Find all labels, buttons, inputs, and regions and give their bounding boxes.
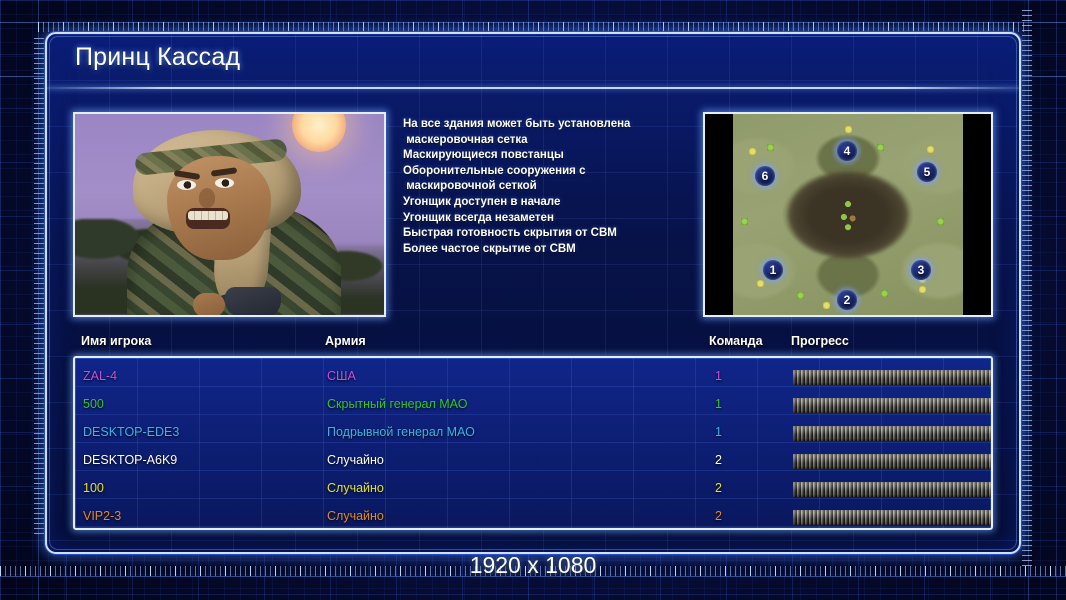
- column-header-progress: Прогресс: [791, 334, 849, 348]
- player-team[interactable]: 1: [715, 397, 722, 411]
- media-row: На все здания может быть установлена мас…: [73, 112, 993, 317]
- column-header-army: Армия: [325, 334, 366, 348]
- player-name: VIP2-3: [83, 509, 121, 523]
- table-row[interactable]: VIP2-3Случайно2: [75, 504, 991, 530]
- map-start-position-5[interactable]: 5: [917, 162, 937, 182]
- ability-line: маскеровочная сетка: [403, 133, 703, 149]
- player-progress-bar: [793, 510, 993, 525]
- table-row[interactable]: DESKTOP-A6K9Случайно2: [75, 448, 991, 476]
- player-army[interactable]: Случайно: [327, 481, 384, 495]
- map-prop: [927, 146, 934, 153]
- portrait-eye-right: [215, 178, 234, 188]
- map-prop: [919, 286, 926, 293]
- player-army[interactable]: Скрытный генерал МАО: [327, 397, 467, 411]
- resolution-label: 1920 x 1080: [0, 552, 1066, 579]
- map-letterbox-right: [963, 114, 991, 315]
- player-team[interactable]: 1: [715, 369, 722, 383]
- map-center-props: [835, 198, 861, 232]
- ability-line: Угонщик всегда незаметен: [403, 211, 703, 227]
- player-progress-bar: [793, 370, 993, 385]
- portrait-nose: [199, 188, 215, 208]
- map-start-position-6[interactable]: 6: [755, 166, 775, 186]
- player-progress-bar: [793, 398, 993, 413]
- player-progress-bar: [793, 482, 993, 497]
- table-row[interactable]: 500Скрытный генерал МАО1: [75, 392, 991, 420]
- table-row[interactable]: 100Случайно2: [75, 476, 991, 504]
- player-table-header: Имя игрока Армия Команда Прогресс: [73, 334, 993, 356]
- portrait-teeth: [188, 211, 228, 220]
- player-team[interactable]: 2: [715, 509, 722, 523]
- map-prop: [823, 302, 830, 309]
- map-prop: [845, 126, 852, 133]
- player-army[interactable]: Случайно: [327, 453, 384, 467]
- ability-line: На все здания может быть установлена: [403, 117, 703, 133]
- player-team[interactable]: 2: [715, 481, 722, 495]
- table-row[interactable]: DESKTOP-EDE3Подрывной генерал МАО1: [75, 420, 991, 448]
- portrait-teapot: [225, 287, 281, 317]
- map-prop: [881, 290, 888, 297]
- portrait-mouth: [186, 208, 230, 229]
- player-army[interactable]: США: [327, 369, 356, 383]
- ability-line: Быстрая готовность скрытия от СВМ: [403, 226, 703, 242]
- table-row[interactable]: ZAL-4США1: [75, 364, 991, 392]
- map-preview[interactable]: 123456: [703, 112, 993, 317]
- portrait-eye-left: [177, 180, 196, 190]
- map-prop: [797, 292, 804, 299]
- map-prop: [741, 218, 748, 225]
- player-army[interactable]: Случайно: [327, 509, 384, 523]
- player-name: 100: [83, 481, 104, 495]
- player-name: DESKTOP-A6K9: [83, 453, 177, 467]
- map-start-position-3[interactable]: 3: [911, 260, 931, 280]
- map-start-position-1[interactable]: 1: [763, 260, 783, 280]
- map-prop: [937, 218, 944, 225]
- player-progress-bar: [793, 426, 993, 441]
- portrait-hand: [193, 293, 225, 317]
- column-header-name: Имя игрока: [81, 334, 151, 348]
- player-team[interactable]: 2: [715, 453, 722, 467]
- map-prop: [767, 144, 774, 151]
- general-ability-list: На все здания может быть установлена мас…: [403, 117, 703, 257]
- player-progress-bar: [793, 454, 993, 469]
- map-prop: [877, 144, 884, 151]
- ability-line: Маскирующиеся повстанцы: [403, 148, 703, 164]
- map-prop: [749, 148, 756, 155]
- map-prop: [757, 280, 764, 287]
- map-start-position-2[interactable]: 2: [837, 290, 857, 310]
- ability-line: Оборонительные сооружения с: [403, 164, 703, 180]
- player-table: ZAL-4США1500Скрытный генерал МАО1DESKTOP…: [73, 356, 993, 530]
- ability-line: маскировочной сеткой: [403, 179, 703, 195]
- general-portrait: [73, 112, 386, 317]
- ability-line: Более частое скрытие от СВМ: [403, 242, 703, 258]
- map-start-position-4[interactable]: 4: [837, 141, 857, 161]
- page-title: Принц Кассад: [75, 43, 240, 72]
- column-header-team: Команда: [709, 334, 763, 348]
- player-name: DESKTOP-EDE3: [83, 425, 179, 439]
- title-separator: [47, 87, 1019, 89]
- player-name: 500: [83, 397, 104, 411]
- player-name: ZAL-4: [83, 369, 117, 383]
- title-bar: Принц Кассад: [47, 34, 1019, 87]
- main-window: Принц Кассад: [45, 32, 1021, 554]
- ability-line: Угонщик доступен в начале: [403, 195, 703, 211]
- map-letterbox-left: [705, 114, 733, 315]
- player-team[interactable]: 1: [715, 425, 722, 439]
- player-army[interactable]: Подрывной генерал МАО: [327, 425, 475, 439]
